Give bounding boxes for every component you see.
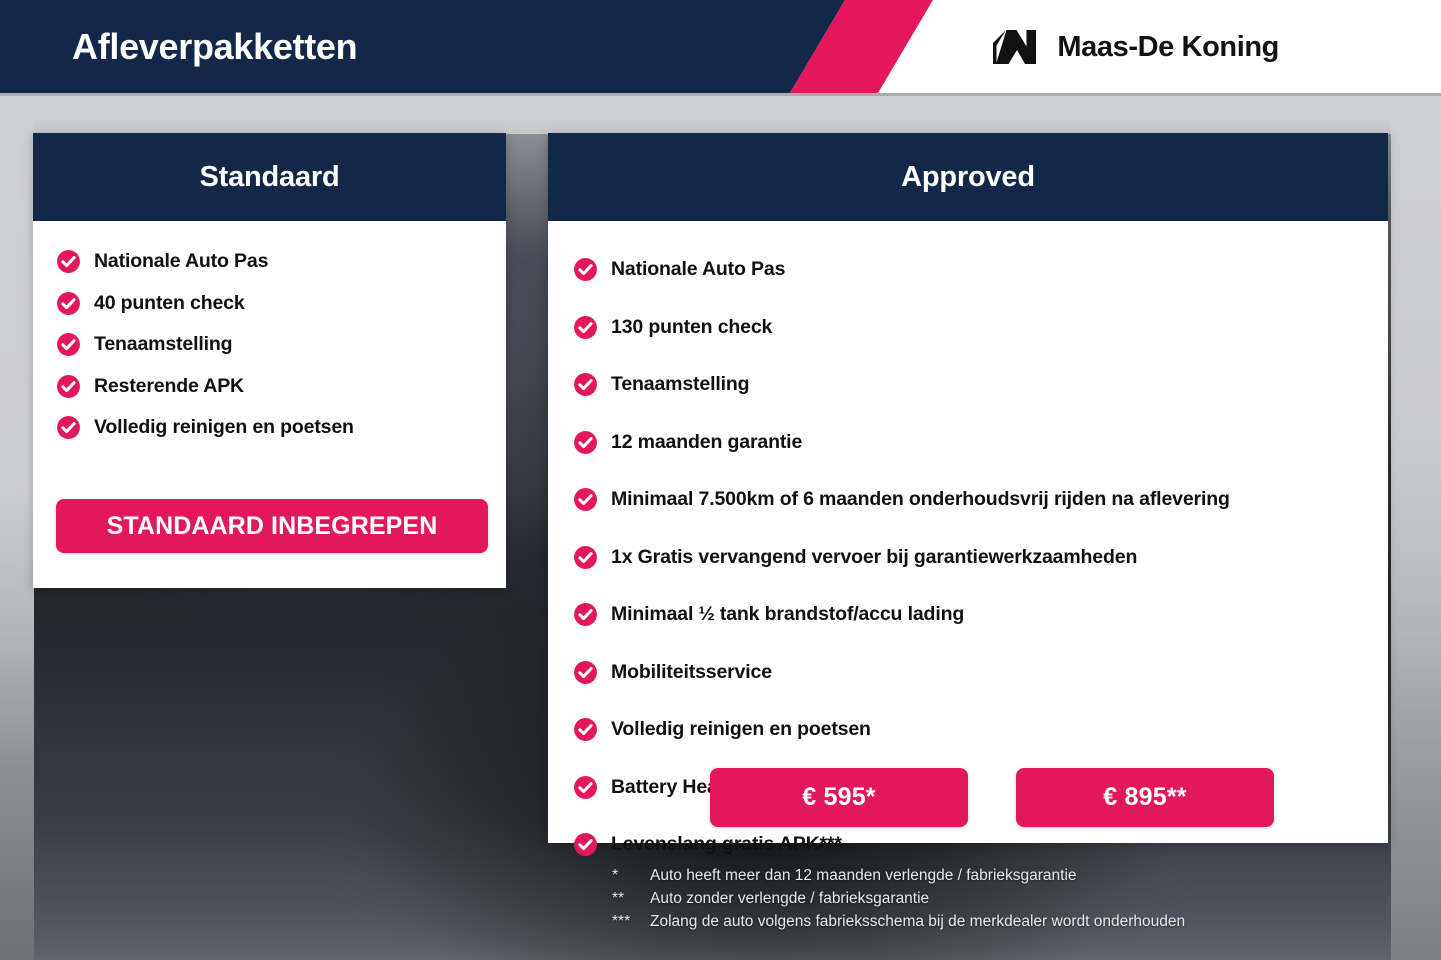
feature-label: Tenaamstelling bbox=[611, 364, 749, 405]
list-item: Tenaamstelling bbox=[573, 364, 1373, 405]
feature-label: Nationale Auto Pas bbox=[94, 249, 268, 274]
check-circle-icon bbox=[573, 545, 598, 570]
feature-label: Minimaal ½ tank brandstof/accu lading bbox=[611, 594, 964, 635]
feature-label: Volledig reinigen en poetsen bbox=[94, 415, 354, 440]
page-title: Afleverpakketten bbox=[72, 24, 357, 70]
list-item: Minimaal ½ tank brandstof/accu lading bbox=[573, 594, 1373, 635]
check-circle-icon bbox=[573, 487, 598, 512]
list-item: 40 punten check bbox=[56, 291, 486, 316]
check-circle-icon bbox=[573, 775, 598, 800]
check-circle-icon bbox=[56, 291, 81, 316]
price-button-895[interactable]: € 895** bbox=[1016, 768, 1274, 827]
check-circle-icon bbox=[573, 315, 598, 340]
background-right-strip bbox=[1391, 88, 1441, 960]
background-left-strip bbox=[0, 88, 34, 960]
card-title-standaard: Standaard bbox=[33, 133, 506, 221]
price-button-595[interactable]: € 595* bbox=[710, 768, 968, 827]
feature-label: Minimaal 7.500km of 6 maanden onderhouds… bbox=[611, 479, 1230, 520]
check-circle-icon bbox=[573, 257, 598, 282]
feature-label: Volledig reinigen en poetsen bbox=[611, 709, 871, 750]
check-circle-icon bbox=[56, 415, 81, 440]
feature-label: 40 punten check bbox=[94, 291, 245, 316]
list-item: Tenaamstelling bbox=[56, 332, 486, 357]
list-item: Volledig reinigen en poetsen bbox=[573, 709, 1373, 750]
footnote-row: *** Zolang de auto volgens fabrieksschem… bbox=[612, 910, 1372, 933]
feature-label: 1x Gratis vervangend vervoer bij garanti… bbox=[611, 537, 1137, 578]
brand-logo: Maas-De Koning bbox=[993, 22, 1279, 72]
list-item: 1x Gratis vervangend vervoer bij garanti… bbox=[573, 537, 1373, 578]
feature-label: Resterende APK bbox=[94, 374, 244, 399]
feature-label: Levenslang gratis APK*** bbox=[611, 824, 842, 865]
footnote-text: Auto heeft meer dan 12 maanden verlengde… bbox=[650, 864, 1077, 887]
check-circle-icon bbox=[56, 249, 81, 274]
footnote-text: Auto zonder verlengde / fabrieksgarantie bbox=[650, 887, 929, 910]
list-item: Mobiliteitsservice bbox=[573, 652, 1373, 693]
check-circle-icon bbox=[573, 717, 598, 742]
check-circle-icon bbox=[573, 602, 598, 627]
feature-label: Nationale Auto Pas bbox=[611, 249, 785, 290]
check-circle-icon bbox=[56, 374, 81, 399]
footnote-row: ** Auto zonder verlengde / fabrieksgaran… bbox=[612, 887, 1372, 910]
card-title-approved: Approved bbox=[548, 133, 1388, 221]
check-circle-icon bbox=[573, 430, 598, 455]
footnote-row: * Auto heeft meer dan 12 maanden verleng… bbox=[612, 864, 1372, 887]
footnote-marker: *** bbox=[612, 910, 650, 933]
list-item: Nationale Auto Pas bbox=[56, 249, 486, 274]
list-item: Levenslang gratis APK*** bbox=[573, 824, 1373, 865]
footnote-marker: ** bbox=[612, 887, 650, 910]
list-item: Volledig reinigen en poetsen bbox=[56, 415, 486, 440]
feature-label: 130 punten check bbox=[611, 307, 772, 348]
footnote-text: Zolang de auto volgens fabrieksschema bi… bbox=[650, 910, 1185, 933]
price-button-row: € 595* € 895** bbox=[710, 768, 1274, 827]
feature-label: Mobiliteitsservice bbox=[611, 652, 772, 693]
header-underline bbox=[0, 93, 1441, 96]
check-circle-icon bbox=[573, 372, 598, 397]
list-item: Minimaal 7.500km of 6 maanden onderhouds… bbox=[573, 479, 1373, 520]
list-item: Resterende APK bbox=[56, 374, 486, 399]
page-header: Afleverpakketten Maas-De Koning bbox=[0, 0, 1441, 93]
list-item: 12 maanden garantie bbox=[573, 422, 1373, 463]
feature-list-standaard: Nationale Auto Pas 40 punten check Tenaa… bbox=[56, 249, 486, 457]
poster-root: Afleverpakketten Maas-De Koning Standaar… bbox=[0, 0, 1441, 960]
feature-label: Tenaamstelling bbox=[94, 332, 232, 357]
check-circle-icon bbox=[573, 832, 598, 857]
standaard-included-button[interactable]: STANDAARD INBEGREPEN bbox=[56, 499, 488, 553]
check-circle-icon bbox=[56, 332, 81, 357]
maas-de-koning-m-logo-icon bbox=[993, 30, 1041, 64]
feature-label: 12 maanden garantie bbox=[611, 422, 802, 463]
footnote-marker: * bbox=[612, 864, 650, 887]
check-circle-icon bbox=[573, 660, 598, 685]
footnotes: * Auto heeft meer dan 12 maanden verleng… bbox=[612, 864, 1372, 933]
list-item: Nationale Auto Pas bbox=[573, 249, 1373, 290]
list-item: 130 punten check bbox=[573, 307, 1373, 348]
brand-name: Maas-De Koning bbox=[1057, 31, 1279, 64]
